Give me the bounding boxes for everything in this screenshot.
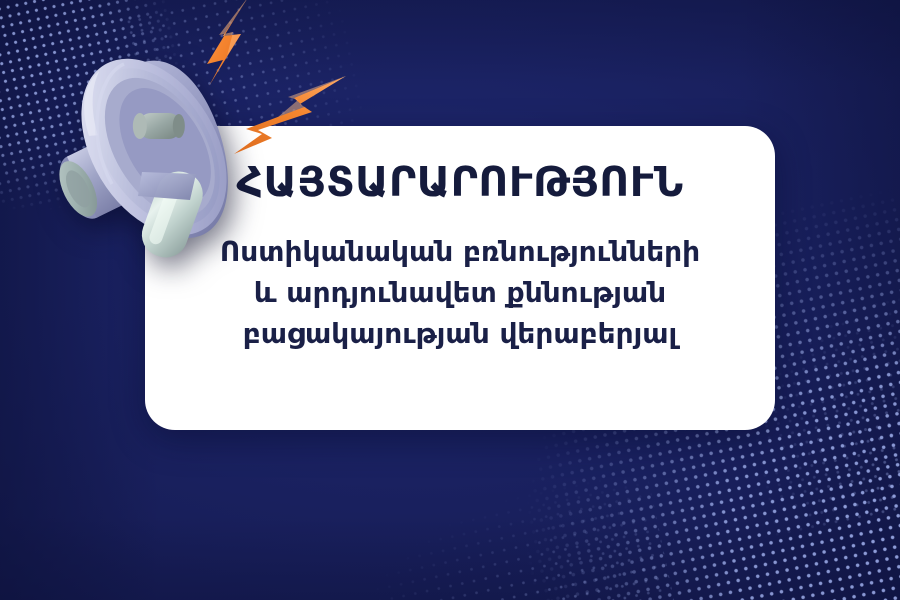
announcement-body-text: Ոստիկանական բռնությունների և արդյունավետ… xyxy=(220,231,700,354)
announcement-poster: ՀԱՅՏԱՐԱՐՈՒԹՅՈՒՆ Ոստիկանական բռնություննե… xyxy=(0,0,900,600)
announcement-body-line-3: բացակայության վերաբերյալ xyxy=(220,313,700,354)
page-title: ՀԱՅՏԱՐԱՐՈՒԹՅՈՒՆ xyxy=(236,160,683,205)
lightning-bolt-icon-lower xyxy=(228,72,350,162)
announcement-body-line-2: և արդյունավետ քննության xyxy=(220,272,700,313)
announcement-body-line-1: Ոստիկանական բռնությունների xyxy=(220,231,700,272)
